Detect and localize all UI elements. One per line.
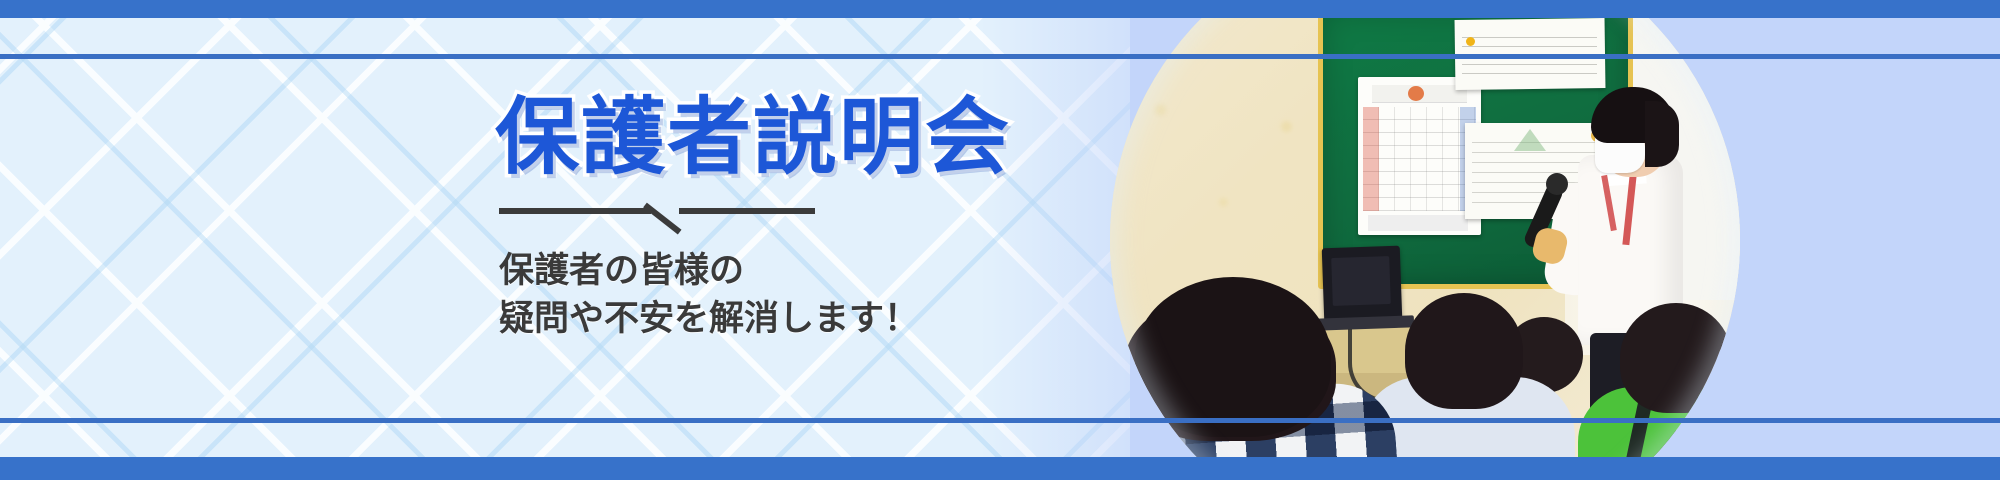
divider-segment-left: [499, 208, 651, 214]
page-banner: 保護者説明会 保護者の皆様の 疑問や不安を解消します！: [0, 0, 2000, 480]
classroom-photo: [1110, 0, 1740, 480]
upper-blue-rule: [0, 54, 2000, 59]
divider-slash-icon: [643, 203, 681, 235]
subtitle-line-1: 保護者の皆様の: [499, 247, 1011, 295]
photo-edge-vignette: [1110, 0, 1740, 480]
bottom-blue-bar: [0, 457, 2000, 480]
page-title: 保護者説明会: [495, 95, 1011, 179]
lower-blue-rule: [0, 418, 2000, 423]
title-underline-with-slash: [499, 199, 814, 225]
top-blue-bar: [0, 0, 2000, 18]
heading-group: 保護者説明会 保護者の皆様の 疑問や不安を解消します！: [495, 95, 1011, 344]
divider-segment-right: [679, 208, 815, 214]
subtitle-line-2: 疑問や不安を解消します！: [499, 295, 1011, 343]
subtitle: 保護者の皆様の 疑問や不安を解消します！: [499, 247, 1011, 344]
